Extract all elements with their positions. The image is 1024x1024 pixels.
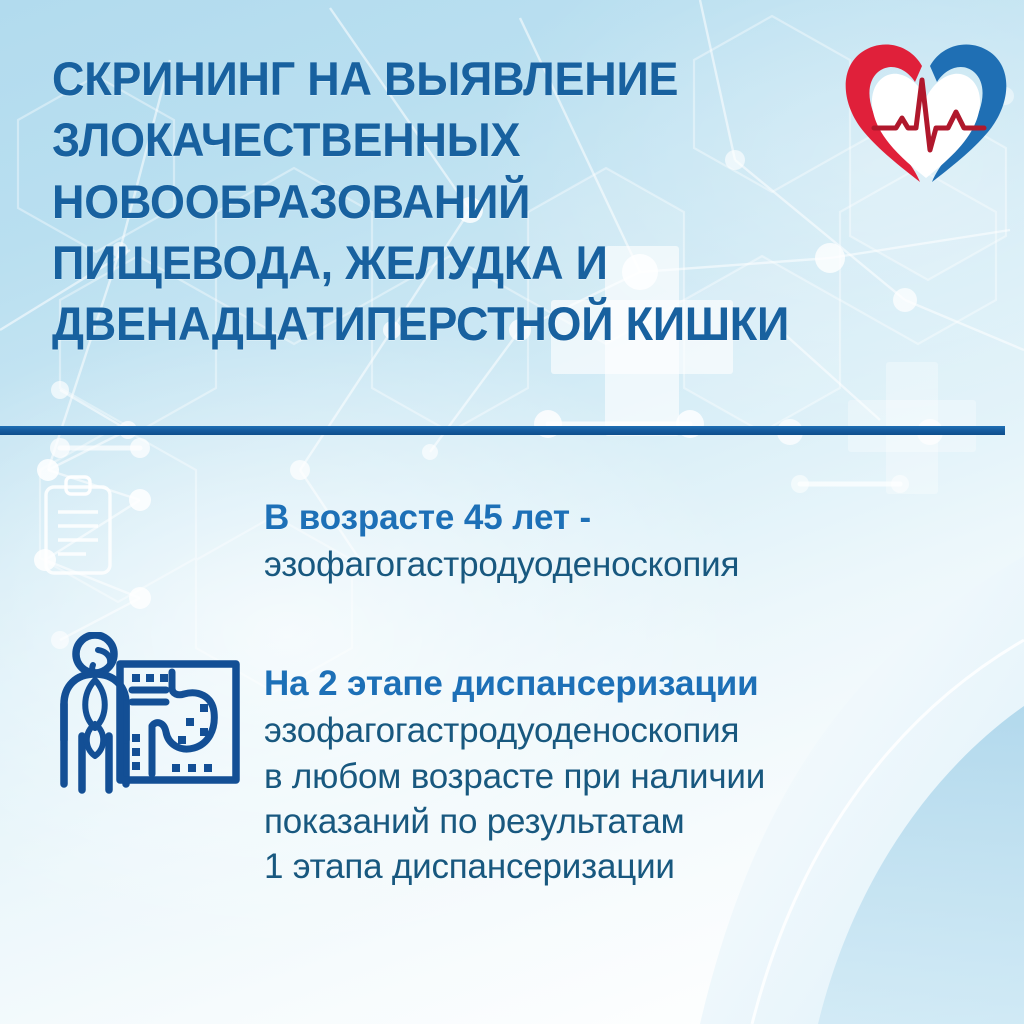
title-line-5: ДВЕНАДЦАТИПЕРСТНОЙ КИШКИ <box>52 293 845 354</box>
block-2-body-line-4: 1 этапа диспансеризации <box>264 844 984 889</box>
info-block-stage-2: На 2 этапе диспансеризации эзофагогастро… <box>264 663 984 890</box>
clipboard-icon <box>46 477 110 573</box>
poster-canvas: СКРИНИНГ НА ВЫЯВЛЕНИЕ ЗЛОКАЧЕСТВЕННЫХ НО… <box>0 0 1024 1024</box>
block-1-body-line-1: эзофагогастродуоденоскопия <box>264 542 984 587</box>
divider <box>0 426 1005 435</box>
block-2-lead: На 2 этапе диспансеризации <box>264 663 984 704</box>
block-2-body-line-3: показаний по результатам <box>264 799 984 844</box>
heart-ecg-logo <box>838 36 1014 188</box>
block-1-body: эзофагогастродуоденоскопия <box>264 542 984 587</box>
page-title: СКРИНИНГ НА ВЫЯВЛЕНИЕ ЗЛОКАЧЕСТВЕННЫХ НО… <box>52 48 845 355</box>
title-line-1: СКРИНИНГ НА ВЫЯВЛЕНИЕ <box>52 48 845 109</box>
block-2-body-line-2: в любом возрасте при наличии <box>264 754 984 799</box>
patient-stomach-endoscopy-icon <box>52 632 242 800</box>
block-2-body: эзофагогастродуоденоскопия в любом возра… <box>264 708 984 889</box>
screen-info-bars <box>132 690 166 702</box>
title-line-3: НОВООБРАЗОВАНИЙ <box>52 171 845 232</box>
block-2-body-line-1: эзофагогастродуоденоскопия <box>264 708 984 753</box>
title-line-2: ЗЛОКАЧЕСТВЕННЫХ <box>52 109 845 170</box>
info-block-age-45: В возрасте 45 лет - эзофагогастродуодено… <box>264 497 984 588</box>
patient-stomach-outline <box>85 680 105 728</box>
block-1-lead: В возрасте 45 лет - <box>264 497 984 538</box>
title-line-4: ПИЩЕВОДА, ЖЕЛУДКА И <box>52 232 845 293</box>
